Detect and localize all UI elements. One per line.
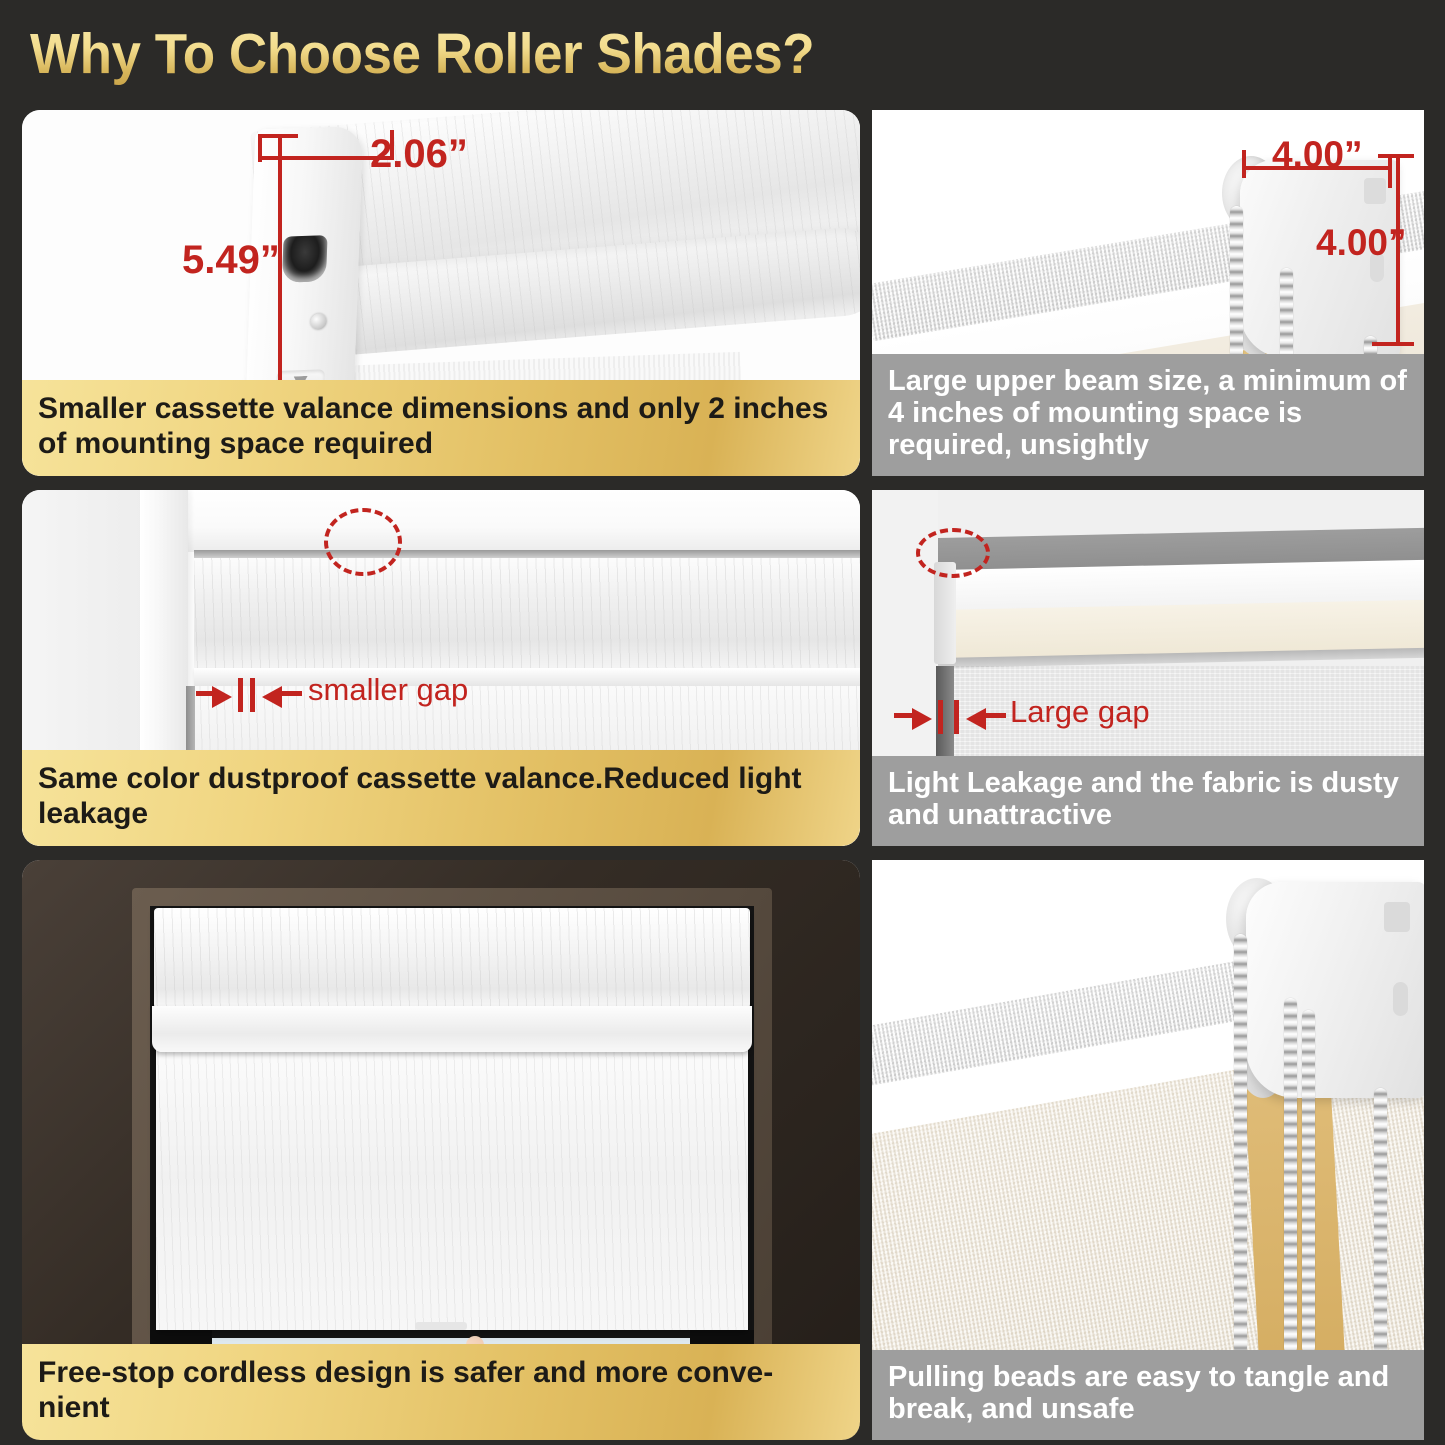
height-dimension-tick-top (258, 134, 298, 138)
panel-free-stop-cordless-design: Free-stop cordless design is safer and m… (22, 860, 860, 1440)
panel-caption-light-leakage-dusty-fabric: Light Leakage and the fabric is dusty an… (872, 756, 1424, 846)
height-dimension-label: 5.49” (182, 238, 280, 283)
gap-label: smaller gap (308, 672, 468, 708)
valance-lip (152, 1006, 752, 1052)
gap-arrow-left-stem (280, 691, 302, 696)
panel-dustproof-cassette-valance: smaller gap Same color dustproof cassett… (22, 490, 860, 846)
roller-shade-fabric (156, 1050, 748, 1330)
valance-texture (154, 908, 750, 1012)
valance-top-edge (194, 550, 860, 558)
bead-chain-right (1374, 1088, 1387, 1354)
window-top-frame (140, 490, 860, 552)
gap-arrow-right-stem (894, 713, 916, 718)
gap-label: Large gap (1010, 694, 1150, 730)
highlight-circle-icon (916, 528, 990, 578)
gap-arrow-right-stem (196, 691, 218, 696)
shade-pull-handle (415, 1322, 467, 1330)
gap-arrow-left-stem (984, 713, 1006, 718)
panel-caption-pulling-beads-tangle: Pulling beads are easy to tangle and bre… (872, 1350, 1424, 1440)
panel-caption-cassette-valance-dimensions: Smaller cassette valance dimensions and … (22, 380, 860, 476)
panel-pulling-beads-tangle: Pulling beads are easy to tangle and bre… (872, 860, 1424, 1440)
gap-arrow-right-icon (912, 708, 932, 730)
panel-cassette-valance-dimensions: 2.06” 5.49” Smaller cassette valance dim… (22, 110, 860, 476)
page-title-text: Why To Choose Roller Shades? (30, 21, 814, 87)
bracket-slot-icon (282, 235, 328, 283)
width-dimension-tick-left (1242, 150, 1246, 178)
panel-large-upper-beam: 4.00” 4.00” Large upper beam size, a min… (872, 110, 1424, 476)
valance-bottom-rail (194, 668, 860, 686)
gap-arrow-right-icon (212, 686, 232, 708)
width-dimension-label: 4.00” (1272, 134, 1363, 176)
infographic-page: Why To Choose Roller Shades? (0, 0, 1445, 1445)
width-dimension-label: 2.06” (370, 132, 468, 177)
screw-icon (310, 313, 327, 330)
gap-marker-right (250, 678, 255, 712)
bead-chain-middle (1284, 998, 1297, 1354)
bead-chain-middle-2 (1302, 1010, 1315, 1354)
gap-marker-right (954, 700, 959, 734)
width-dimension-tick-right (1388, 154, 1392, 188)
gap-marker-left (238, 678, 243, 712)
panel-caption-dustproof-cassette-valance: Same color dustproof cassette valance.Re… (22, 750, 860, 846)
height-dimension-label: 4.00” (1316, 222, 1407, 264)
panel-caption-free-stop-cordless-design: Free-stop cordless design is safer and m… (22, 1344, 860, 1440)
fabric-texture (156, 1050, 748, 1330)
highlight-circle-icon (324, 508, 402, 576)
panel-caption-large-upper-beam: Large upper beam size, a minimum of 4 in… (872, 354, 1424, 476)
page-title: Why To Choose Roller Shades? (30, 18, 1030, 90)
height-dimension-tick-top (1378, 154, 1414, 158)
height-dimension-tick-bottom (1372, 342, 1414, 346)
bead-chain-left (1234, 934, 1247, 1354)
gap-marker-left (938, 700, 943, 734)
width-dimension-tick-left (258, 136, 262, 162)
mounting-bracket (1246, 882, 1424, 1098)
gap-arrow-left-icon (262, 686, 282, 708)
comparison-grid: 2.06” 5.49” Smaller cassette valance dim… (0, 104, 1445, 1445)
valance-texture (194, 558, 860, 668)
cassette-valance (154, 908, 750, 1012)
gap-arrow-left-icon (966, 708, 986, 730)
cassette-valance (194, 558, 860, 668)
panel-light-leakage-dusty-fabric: Large gap Light Leakage and the fabric i… (872, 490, 1424, 846)
